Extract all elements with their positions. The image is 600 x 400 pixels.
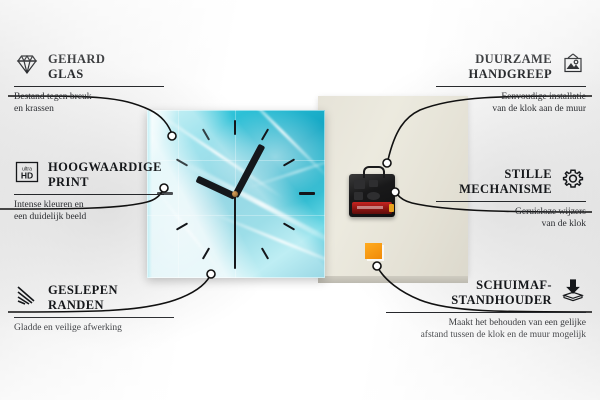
feature-title: GEHARD GLAS xyxy=(48,52,105,82)
feature-duurzame-handgreep: DUURZAME HANDGREEP Eenvoudige installati… xyxy=(436,52,586,115)
feature-gehard-glas: GEHARD GLAS Bestand tegen breuk en krass… xyxy=(14,52,164,115)
divider xyxy=(14,317,174,318)
hanging-frame-icon xyxy=(560,52,586,76)
feature-desc: Bestand tegen breuk en krassen xyxy=(14,92,164,115)
feature-desc: Eenvoudige installatie van de klok aan d… xyxy=(436,92,586,115)
gear-icon xyxy=(560,167,586,191)
feature-title: STILLE MECHANISME xyxy=(459,167,552,197)
press-pad-icon xyxy=(560,278,586,302)
feature-title: DUURZAME HANDGREEP xyxy=(469,52,552,82)
feature-hoogwaardige-print: ultra HD HOOGWAARDIGE PRINT Intense kleu… xyxy=(14,160,164,223)
feature-title: GESLEPEN RANDEN xyxy=(48,283,118,313)
divider xyxy=(436,201,586,202)
feature-desc: Geruisloze wijzers van de klok xyxy=(436,207,586,230)
bevelled-edges-icon xyxy=(14,283,40,307)
feature-title: HOOGWAARDIGE PRINT xyxy=(48,160,162,190)
divider xyxy=(14,194,164,195)
divider xyxy=(436,86,586,87)
svg-text:HD: HD xyxy=(21,171,33,181)
feature-title: SCHUIMAF- STANDHOUDER xyxy=(451,278,552,308)
infographic-canvas: GEHARD GLAS Bestand tegen breuk en krass… xyxy=(0,0,600,400)
feature-desc: Intense kleuren en een duidelijk beeld xyxy=(14,200,164,223)
feature-geslepen-randen: GESLEPEN RANDEN Gladde en veilige afwerk… xyxy=(14,283,174,335)
divider xyxy=(386,312,586,313)
feature-schuimafstandhouder: SCHUIMAF- STANDHOUDER Maakt het behouden… xyxy=(386,278,586,341)
feature-desc: Maakt het behouden van een gelijke afsta… xyxy=(386,318,586,341)
divider xyxy=(14,86,164,87)
diamond-icon xyxy=(14,52,40,76)
feature-stille-mechanisme: STILLE MECHANISME Geruisloze wijzers van… xyxy=(436,167,586,230)
feature-desc: Gladde en veilige afwerking xyxy=(14,323,174,335)
ultra-hd-icon: ultra HD xyxy=(14,160,40,184)
